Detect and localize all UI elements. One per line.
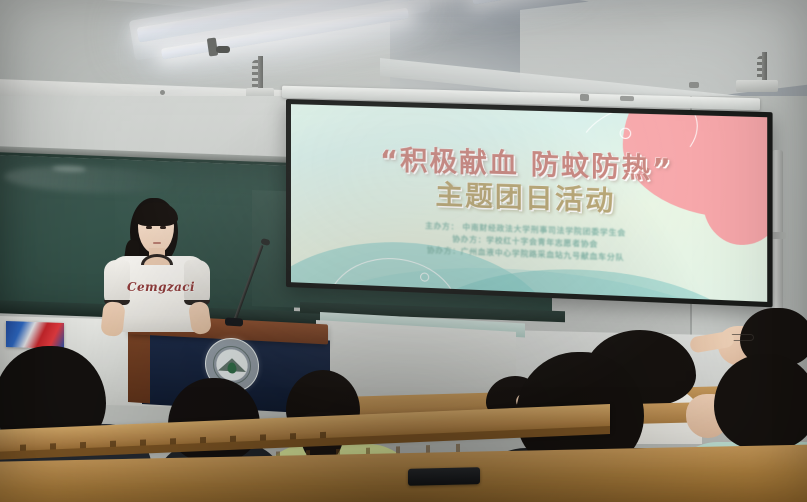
chalkboard-glare — [4, 163, 174, 195]
ceiling-hook-icon — [216, 46, 230, 53]
ceiling-fitting-icon — [689, 82, 699, 88]
projection-screen: “积极献血 防蚊防热” 主题团日活动 主办方： 中南财经政法大学刑事司法学院团委… — [286, 99, 773, 307]
presentation-slide: “积极献血 防蚊防热” 主题团日活动 主办方： 中南财经政法大学刑事司法学院团委… — [291, 104, 767, 302]
student-head — [714, 354, 807, 450]
ceiling-mount-rod — [258, 56, 263, 90]
microphone-base — [225, 318, 243, 327]
ceiling-mount-plate-right — [736, 80, 778, 92]
presenter-arm-left — [100, 301, 125, 337]
presenter-eye-left — [146, 226, 152, 229]
slide-subtitle-block: 主办方： 中南财经政法大学刑事司法学院团委学生会 协办方：学校红十字会青年志愿者… — [425, 220, 626, 263]
lecture-hall-photo: “积极献血 防蚊防热” 主题团日活动 主办方： 中南财经政法大学刑事司法学院团委… — [0, 0, 807, 502]
ceiling-fitting-icon — [160, 90, 165, 95]
screen-mount-knob — [620, 96, 634, 101]
presenter: Cemgzaci — [96, 196, 226, 336]
slide-content: “积极献血 防蚊防热” 主题团日活动 主办方： 中南财经政法大学刑事司法学院团委… — [291, 104, 767, 302]
colored-poster — [6, 321, 64, 349]
presenter-eye-right — [160, 226, 166, 229]
slide-title-line-2: 主题团日活动 — [435, 179, 615, 218]
screen-mount-knob — [580, 94, 589, 101]
presenter-hair-front — [134, 202, 178, 226]
presenter-shirt-text: Cemgzaci — [96, 280, 226, 294]
smartphone-on-desk — [408, 467, 480, 486]
slide-title-line-1: “积极献血 防蚊防热” — [380, 145, 673, 187]
presenter-arm-right — [188, 301, 212, 335]
crest-leaf-shape — [228, 362, 237, 373]
